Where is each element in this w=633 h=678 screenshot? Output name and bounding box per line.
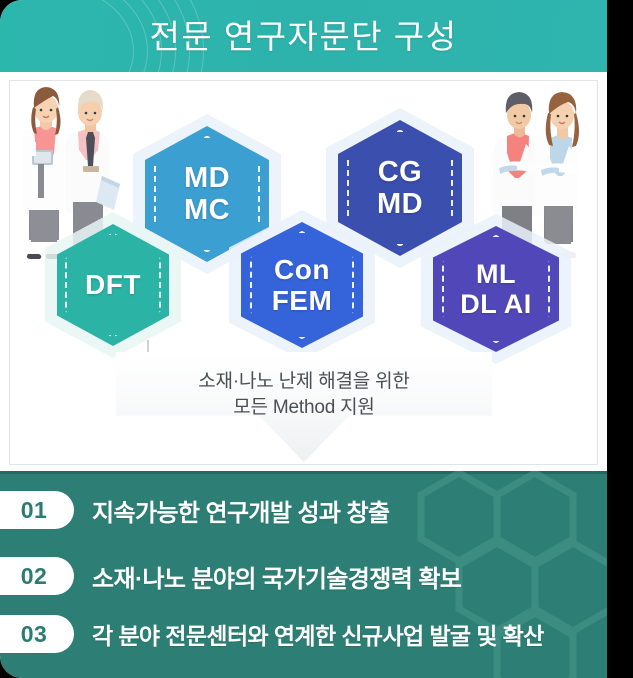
hexagon-confem[interactable]: Con FEM (241, 222, 363, 348)
outcome-badge-03: 03 (0, 615, 74, 653)
infographic-card: 전문 연구자문단 구성 (0, 0, 607, 678)
header-banner: 전문 연구자문단 구성 (0, 0, 607, 72)
hexagon-dft[interactable]: DFT (57, 224, 169, 346)
hexagon-label-confem: Con FEM (272, 254, 333, 317)
hexagon-label-mdmc: MD MC (184, 162, 230, 227)
outcome-text-02: 소재·나노 분야의 국가기술경쟁력 확보 (92, 559, 461, 594)
infographic-canvas: 전문 연구자문단 구성 (0, 0, 633, 678)
outcome-row-01[interactable]: 01 지속가능한 연구개발 성과 창출 (0, 487, 607, 533)
page-title: 전문 연구자문단 구성 (0, 10, 607, 58)
method-banner-text: 소재·나노 난제 해결을 위한 모든 Method 지원 (116, 369, 492, 421)
outcome-row-02[interactable]: 02 소재·나노 분야의 국가기술경쟁력 확보 (0, 553, 607, 599)
hexagon-label-dft: DFT (85, 269, 141, 300)
outcomes-panel: 01 지속가능한 연구개발 성과 창출 02 소재·나노 분야의 국가기술경쟁력… (0, 471, 607, 678)
outcomes-list: 01 지속가능한 연구개발 성과 창출 02 소재·나노 분야의 국가기술경쟁력… (0, 471, 607, 678)
hexagon-label-mldlai: ML DL AI (460, 259, 532, 319)
outcome-text-03: 각 분야 전문센터와 연계한 신규사업 발굴 및 확산 (92, 617, 544, 651)
outcome-badge-01: 01 (0, 491, 74, 529)
outcome-badge-02: 02 (0, 557, 74, 595)
outcome-text-01: 지속가능한 연구개발 성과 창출 (92, 493, 389, 528)
hexagon-label-cgmd: CG MD (377, 156, 423, 221)
outcome-row-03[interactable]: 03 각 분야 전문센터와 연계한 신규사업 발굴 및 확산 (0, 611, 607, 657)
hexagon-mldlai[interactable]: ML DL AI (433, 226, 559, 352)
